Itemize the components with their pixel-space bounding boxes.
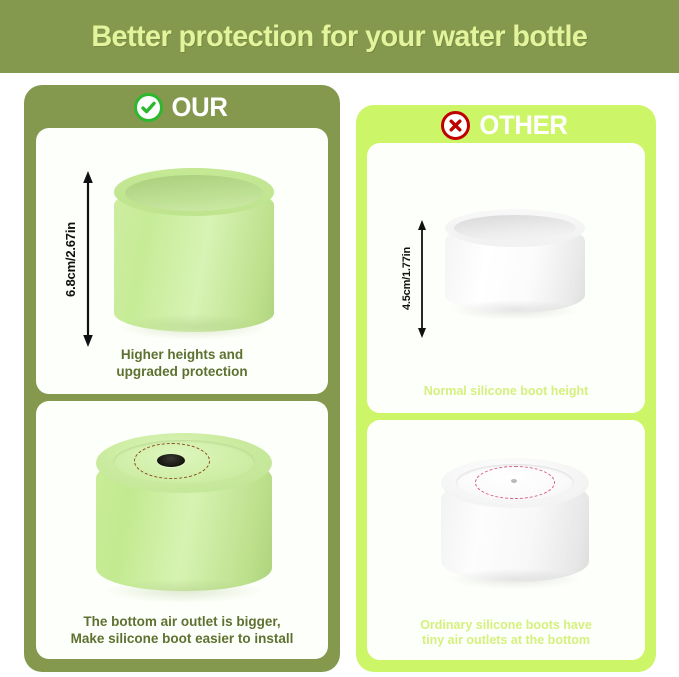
boot-shadow [451, 300, 579, 320]
boot-inner-cavity [454, 215, 576, 241]
product-image-other-short-boot [445, 209, 585, 317]
panel-our-label: OUR [172, 92, 228, 123]
page-title: Better protection for your water bottle [92, 20, 588, 54]
card-other-height: 4.5cm/1.77in Normal silicone boot height [367, 143, 645, 413]
panel-other: OTHER 4.5cm/1.77in [356, 105, 656, 672]
air-outlet-hole [511, 479, 517, 483]
boot-shadow [106, 579, 262, 603]
double-arrow-icon [81, 171, 95, 347]
double-arrow-icon [416, 220, 428, 338]
card-our-height: 6.8cm/2.67in Higher heights and upgraded… [36, 128, 328, 394]
other-height-stage: 4.5cm/1.77in [367, 143, 645, 413]
product-image-other-inverted-boot [441, 458, 589, 586]
dimension-label-our: 6.8cm/2.67in [63, 222, 78, 297]
dimension-annotation-other: 4.5cm/1.77in [401, 220, 428, 338]
caption-our-air-outlet: The bottom air outlet is bigger, Make si… [36, 614, 328, 647]
boot-inner-cavity [125, 175, 263, 211]
product-image-our-inverted-boot [96, 433, 272, 599]
dimension-label-other: 4.5cm/1.77in [401, 247, 413, 310]
product-image-our-tall-boot [114, 168, 274, 338]
card-our-air-outlet: The bottom air outlet is bigger, Make si… [36, 401, 328, 659]
boot-shadow [120, 314, 268, 340]
comparison-area: OUR 6.8cm/2.67in [0, 73, 679, 677]
header-banner: Better protection for your water bottle [0, 0, 679, 73]
panel-other-header: OTHER [356, 108, 656, 142]
panel-our: OUR 6.8cm/2.67in [24, 85, 340, 672]
boot-shadow [449, 569, 581, 589]
x-circle-icon [441, 111, 470, 140]
caption-other-air-outlet: Ordinary silicone boots have tiny air ou… [367, 618, 645, 649]
card-other-air-outlet: Ordinary silicone boots have tiny air ou… [367, 420, 645, 660]
caption-our-height: Higher heights and upgraded protection [36, 347, 328, 380]
caption-other-height: Normal silicone boot height [367, 384, 645, 399]
panel-our-header: OUR [24, 90, 340, 124]
dimension-annotation-our: 6.8cm/2.67in [63, 171, 95, 347]
panel-other-label: OTHER [480, 110, 568, 141]
air-outlet-hole [157, 454, 185, 467]
check-circle-icon [134, 93, 163, 122]
